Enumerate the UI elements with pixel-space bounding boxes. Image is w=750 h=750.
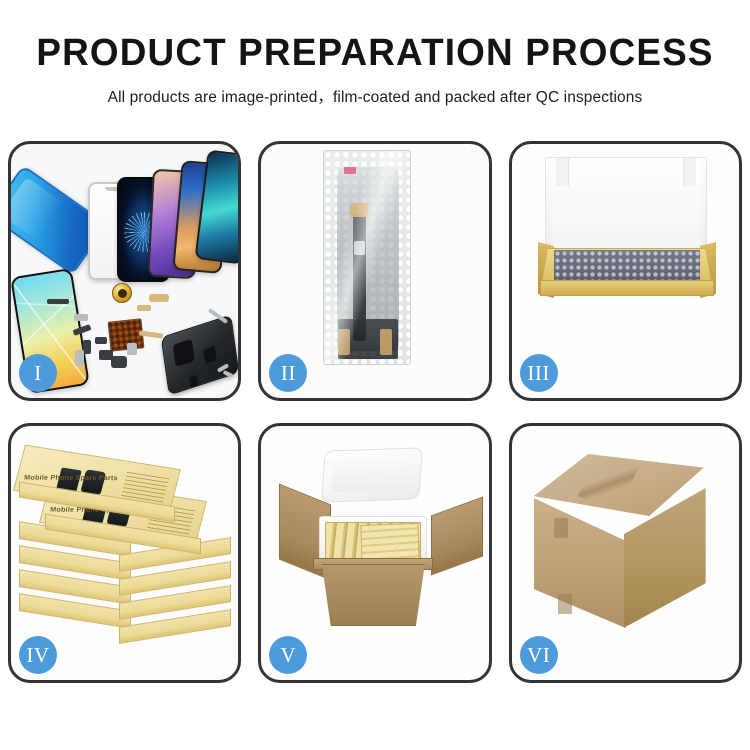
step-panel-4[interactable]: Mobile Phone Spare Parts Mobile Phone Sp… bbox=[8, 423, 241, 683]
lcd-tab-right bbox=[380, 329, 392, 355]
small-part-strip-2 bbox=[74, 314, 88, 321]
small-part-flex-1 bbox=[149, 294, 169, 302]
step-badge-1: I bbox=[19, 354, 57, 392]
carton-front-wall bbox=[317, 564, 429, 626]
step-badge-6: VI bbox=[520, 636, 558, 674]
bubble-foam-fill bbox=[554, 250, 700, 280]
small-part-speaker bbox=[111, 356, 127, 368]
lcd-tab-left bbox=[338, 329, 350, 355]
step-panel-2[interactable]: II bbox=[258, 141, 491, 401]
bubble-wrap-sleeve bbox=[323, 150, 411, 365]
lcd-connector-top bbox=[350, 203, 368, 217]
page-title: PRODUCT PREPARATION PROCESS bbox=[11, 34, 739, 74]
step-panel-5[interactable]: V bbox=[258, 423, 491, 683]
step-panel-3[interactable]: III bbox=[509, 141, 742, 401]
header: PRODUCT PREPARATION PROCESS All products… bbox=[0, 0, 750, 107]
speaker-coil-part bbox=[112, 283, 132, 303]
small-part-block-3 bbox=[95, 337, 107, 344]
packed-units-row-2 bbox=[361, 523, 420, 563]
carton-flap-right bbox=[431, 497, 483, 576]
product-preparation-infographic: PRODUCT PREPARATION PROCESS All products… bbox=[0, 0, 750, 750]
carton-tape-lower bbox=[558, 594, 572, 614]
small-part-flex-2 bbox=[137, 305, 151, 311]
step-badge-3: III bbox=[520, 354, 558, 392]
carton-tape-upper bbox=[554, 518, 568, 538]
carton-left-face bbox=[534, 498, 626, 628]
lcd-connector-mid bbox=[354, 241, 365, 255]
foam-box-lid bbox=[321, 447, 423, 502]
step-badge-4: IV bbox=[19, 636, 57, 674]
small-part-strip-1 bbox=[47, 299, 69, 304]
box-label-1: Mobile Phone Spare Parts bbox=[24, 475, 118, 482]
page-subtitle: All products are image-printed，film-coat… bbox=[0, 85, 750, 107]
small-part-block-1 bbox=[83, 340, 91, 354]
box-front-wall bbox=[540, 280, 714, 296]
phone-back-housing bbox=[161, 314, 239, 395]
step-panel-1[interactable]: I bbox=[8, 141, 241, 401]
small-part-tray bbox=[75, 350, 84, 366]
small-part-button bbox=[127, 343, 137, 355]
qc-sticker bbox=[344, 167, 356, 174]
steps-grid: I II bbox=[8, 141, 742, 683]
step-panel-6[interactable]: VI bbox=[509, 423, 742, 683]
